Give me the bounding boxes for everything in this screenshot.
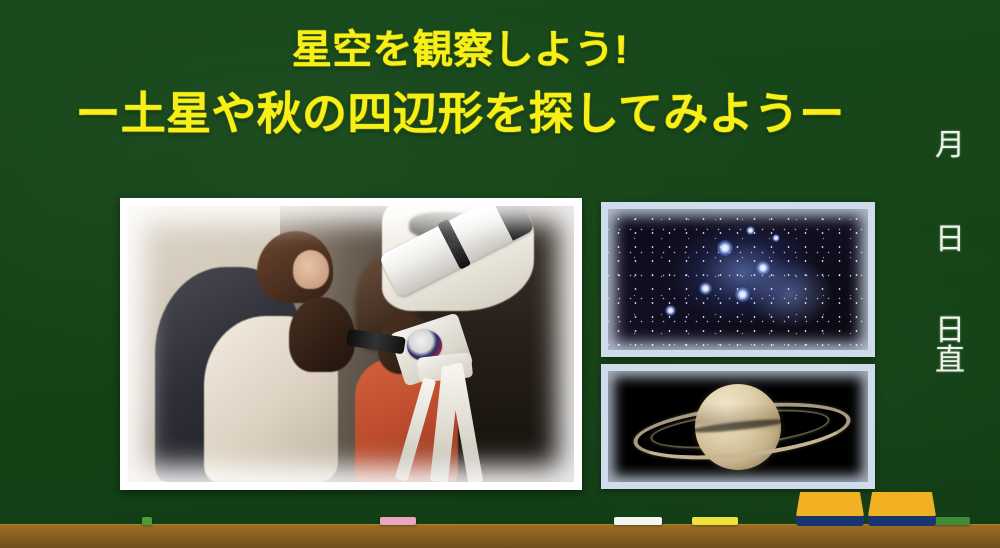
- eraser-left-felt: [796, 492, 864, 516]
- chalk-pink[interactable]: [380, 517, 416, 525]
- telescope-observation-photo: [120, 198, 582, 490]
- label-daily-duty-char-2: 直: [918, 346, 982, 376]
- saturn-photo: [601, 364, 875, 489]
- bright-star-6: [746, 226, 755, 235]
- eraser-right[interactable]: [868, 492, 936, 526]
- chalk-green-2[interactable]: [934, 517, 970, 525]
- star-cluster-photo-content: [608, 209, 868, 350]
- label-day: 日: [918, 214, 982, 258]
- eraser-left[interactable]: [796, 492, 864, 526]
- eraser-right-felt: [868, 492, 936, 516]
- eraser-right-base: [868, 515, 936, 526]
- eraser-left-base: [796, 515, 864, 526]
- bright-star-4: [735, 287, 750, 302]
- slide-screen: 星空を観察しよう! ー土星や秋の四辺形を探してみようー 月 日 日 直: [0, 0, 1000, 548]
- photo-person-adult-face: [293, 250, 329, 289]
- chalk-white[interactable]: [614, 517, 662, 525]
- star-field: [608, 209, 868, 350]
- label-month: 月: [918, 120, 982, 164]
- label-daily-duty: 日 直: [918, 316, 982, 376]
- chalk-green-1[interactable]: [142, 517, 152, 525]
- chalk-yellow[interactable]: [692, 517, 738, 525]
- slide-title: 星空を観察しよう! ー土星や秋の四辺形を探してみようー: [40, 26, 880, 142]
- telescope-observation-photo-content: [128, 206, 574, 482]
- bright-star-5: [665, 305, 676, 316]
- label-daily-duty-char-1: 日: [918, 316, 982, 346]
- pleiades-star-cluster-photo: [601, 202, 875, 357]
- photo-telescope-tube-ring: [437, 219, 471, 270]
- title-line-2: ー土星や秋の四辺形を探してみようー: [40, 87, 880, 142]
- photo-person-child-cream-hair: [289, 297, 356, 372]
- title-line-1: 星空を観察しよう!: [40, 26, 880, 75]
- saturn-ring-front-arc: [631, 393, 853, 468]
- date-duty-labels: 月 日 日 直: [918, 120, 982, 376]
- chalk-ledge: [0, 524, 1000, 548]
- saturn-photo-content: [608, 371, 868, 482]
